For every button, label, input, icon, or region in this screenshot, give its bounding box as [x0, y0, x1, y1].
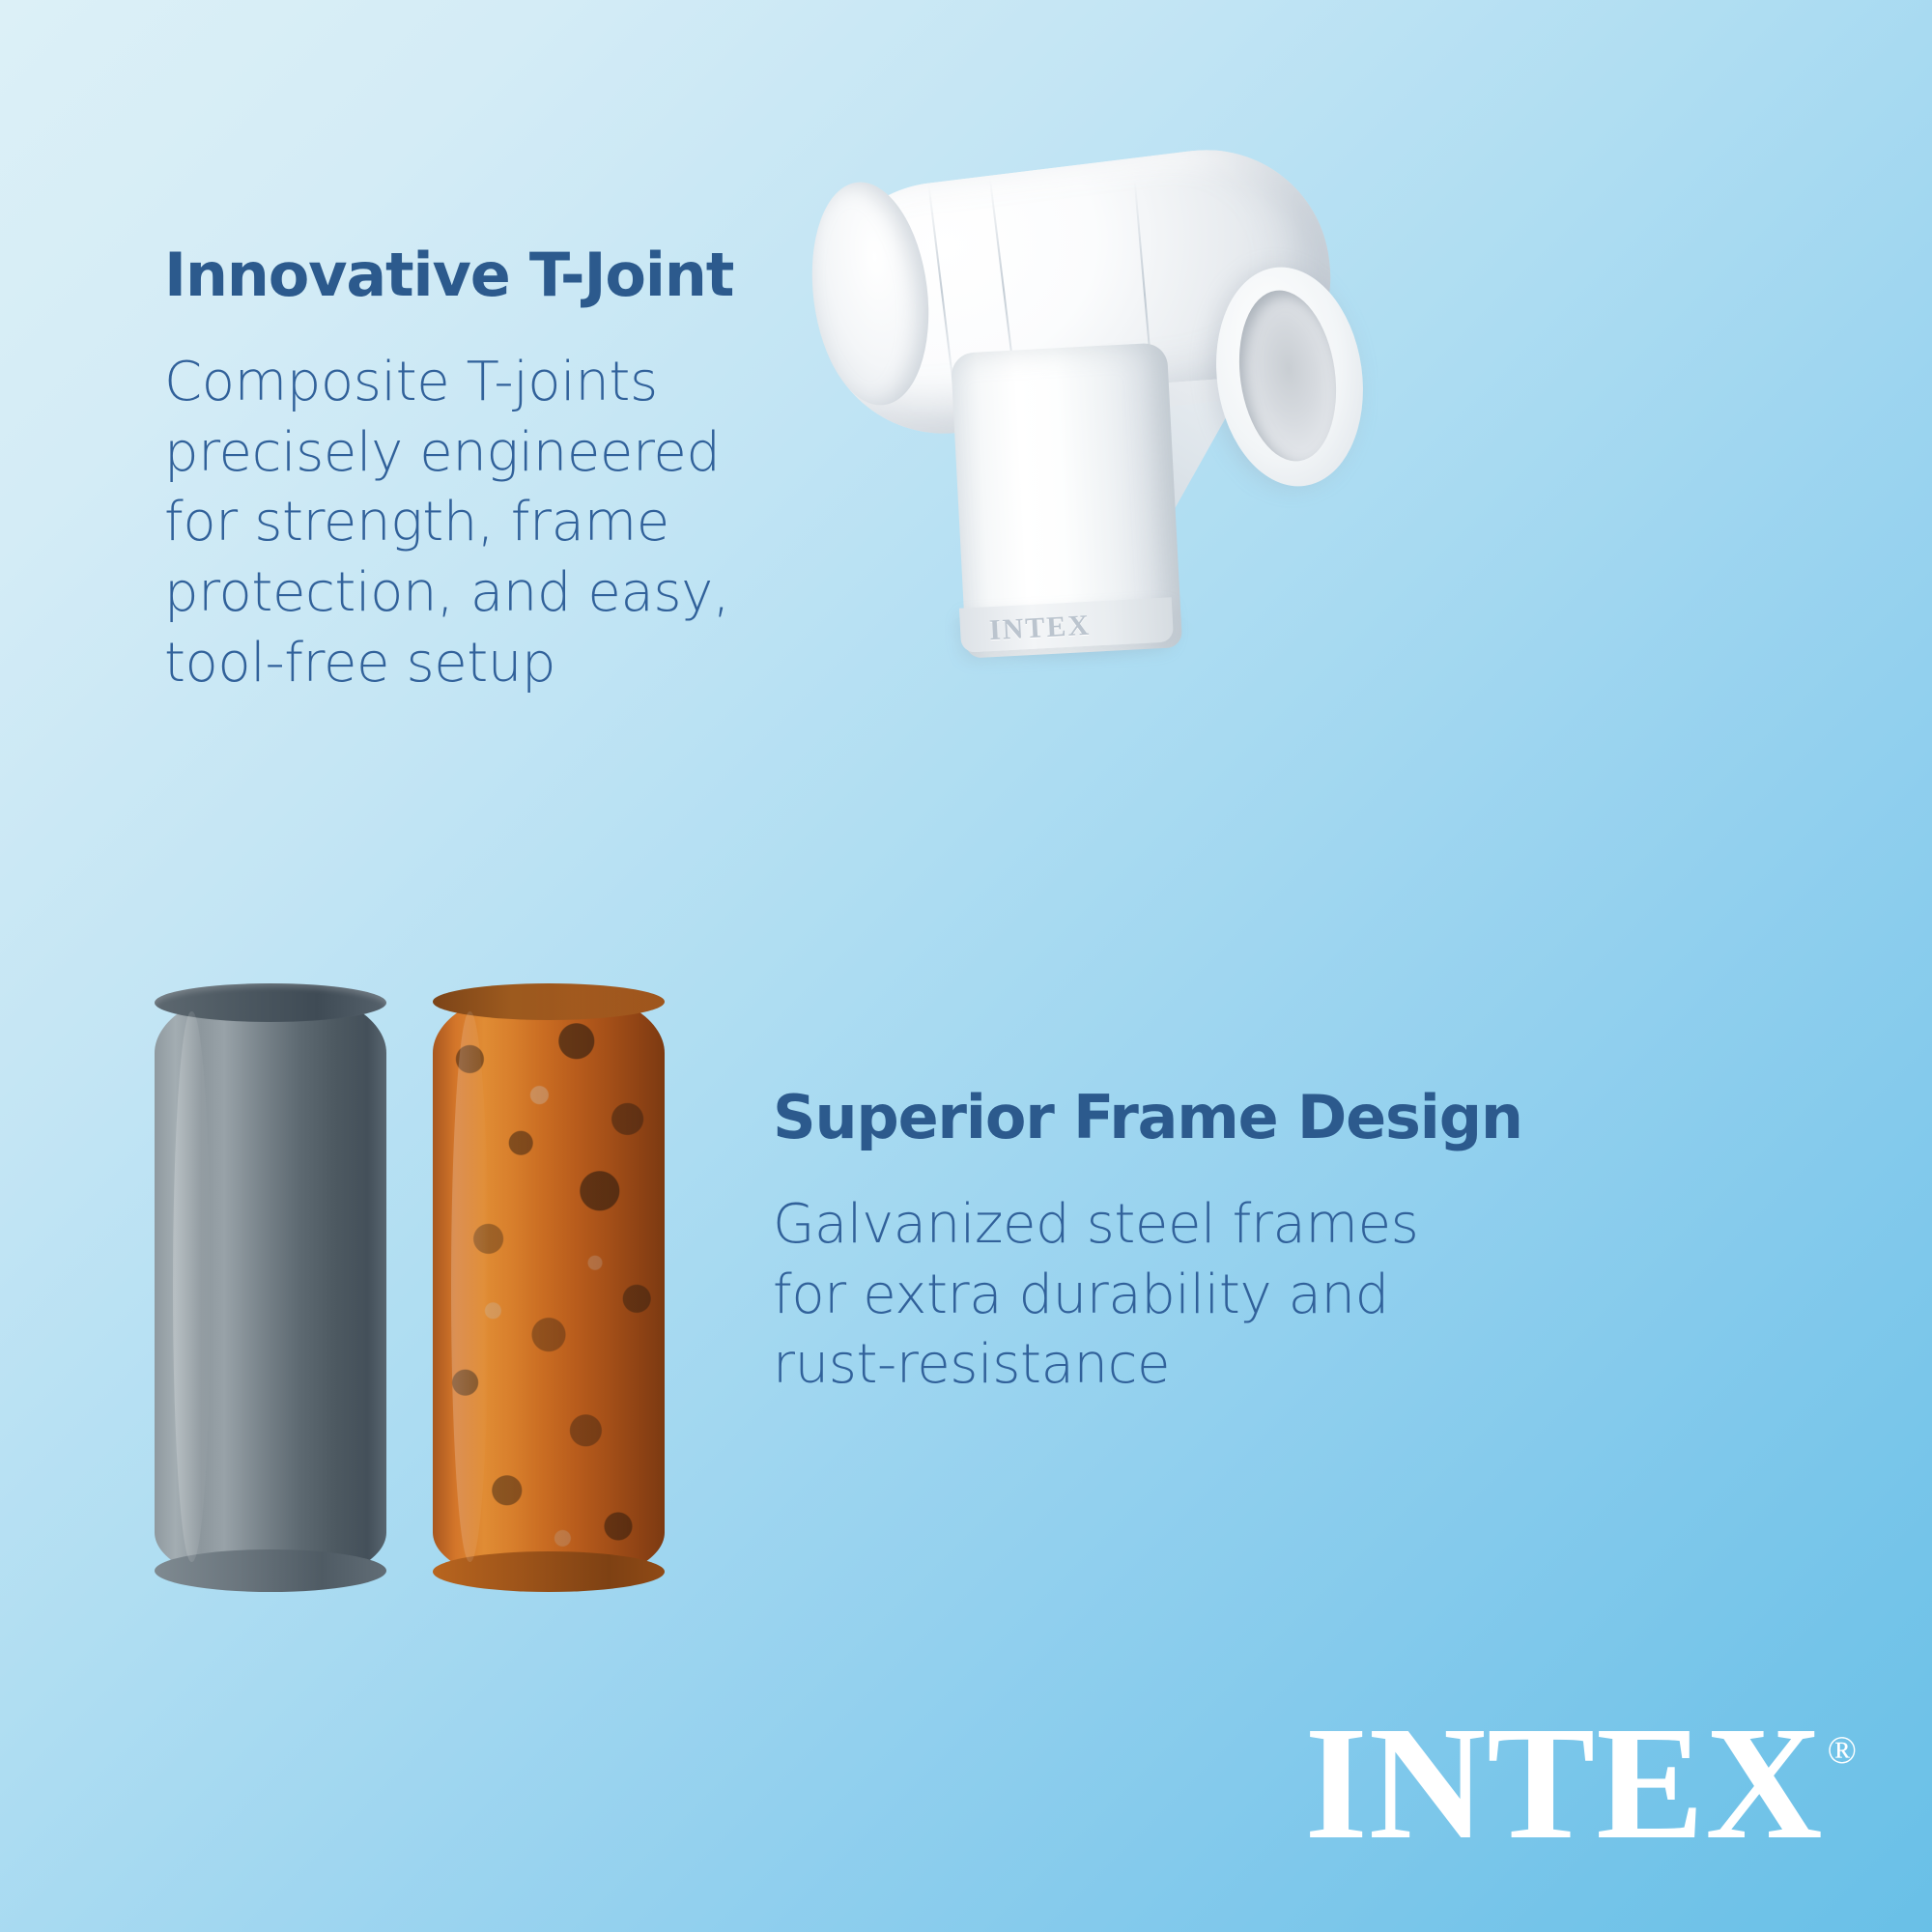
- galvanized-steel-pipe-sample: [155, 987, 386, 1586]
- rusted-pipe-bottom-rim: [433, 1551, 665, 1592]
- frame-design-description-line-2: for extra durability and: [773, 1261, 1507, 1331]
- t-joint-description: Composite T-joints precisely engineered …: [164, 348, 860, 699]
- t-joint-description-line-2: precisely engineered: [164, 418, 860, 489]
- promo-banner: INTEX Innovative T-Joint Composite T-joi…: [0, 0, 1932, 1932]
- intex-wordmark: INTEX: [1304, 1718, 1823, 1851]
- registered-trademark-icon: ®: [1828, 1731, 1857, 1770]
- frame-design-heading: Superior Frame Design: [773, 1086, 1507, 1150]
- t-joint-heading: Innovative T-Joint: [164, 243, 860, 307]
- t-joint-description-line-4: protection, and easy,: [164, 558, 860, 629]
- rusted-pipe-body: [433, 987, 665, 1586]
- galvanized-pipe-top-rim: [155, 983, 386, 1022]
- frame-design-description-line-1: Galvanized steel frames: [773, 1190, 1507, 1261]
- t-joint-product-image: INTEX: [800, 145, 1379, 686]
- galvanized-pipe-bottom-rim: [155, 1549, 386, 1592]
- frame-design-description-line-3: rust-resistance: [773, 1330, 1507, 1401]
- galvanized-pipe-body: [155, 987, 386, 1586]
- feature-block-frame-design: Superior Frame Design Galvanized steel f…: [773, 1086, 1507, 1401]
- t-joint-description-line-1: Composite T-joints: [164, 348, 860, 418]
- rusted-steel-pipe-sample: [433, 987, 665, 1586]
- feature-block-t-joint: Innovative T-Joint Composite T-joints pr…: [164, 243, 860, 699]
- t-joint-description-line-3: for strength, frame: [164, 488, 860, 558]
- intex-logo: INTEX ®: [1304, 1718, 1857, 1851]
- frame-design-description: Galvanized steel frames for extra durabi…: [773, 1190, 1507, 1401]
- rusted-pipe-top-rim: [433, 983, 665, 1020]
- t-joint-description-line-5: tool-free setup: [164, 629, 860, 699]
